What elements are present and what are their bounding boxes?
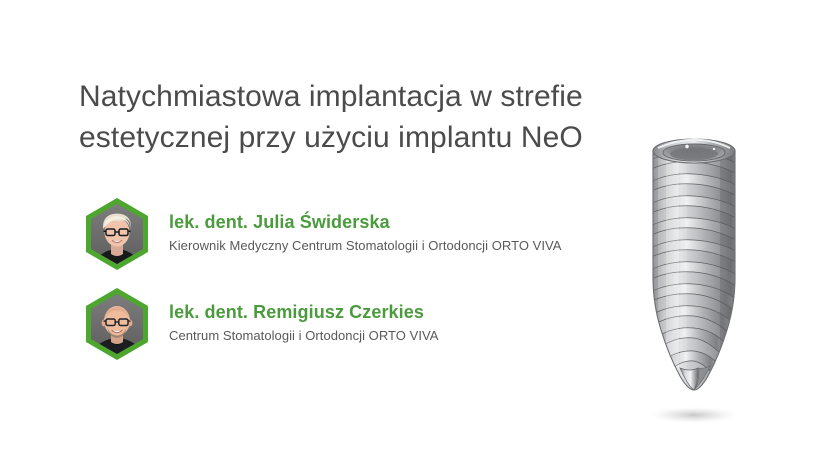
speaker-name-1: lek. dent. Julia Świderska <box>169 211 562 233</box>
speaker-text-2: lek. dent. Remigiusz Czerkies Centrum St… <box>169 301 438 347</box>
page-title: Natychmiastowa implantacja w strefie est… <box>79 76 619 158</box>
presentation-slide: Natychmiastowa implantacja w strefie est… <box>0 0 828 461</box>
speaker-entry-2: lek. dent. Remigiusz Czerkies Centrum St… <box>86 288 438 360</box>
speaker-name-2: lek. dent. Remigiusz Czerkies <box>169 301 438 323</box>
speaker-role-2: Centrum Stomatologii i Ortodoncji ORTO V… <box>169 326 438 345</box>
title-line-1: Natychmiastowa implantacja w strefie <box>79 76 619 117</box>
dental-implant-image <box>628 128 788 438</box>
avatar-hexagon-frame-1 <box>86 198 148 270</box>
title-line-2: estetycznej przy użyciu implantu NeO <box>79 117 619 158</box>
avatar-2 <box>91 294 143 354</box>
avatar-hexagon-frame-2 <box>86 288 148 360</box>
speaker-text-1: lek. dent. Julia Świderska Kierownik Med… <box>169 211 562 257</box>
speaker-entry-1: lek. dent. Julia Świderska Kierownik Med… <box>86 198 562 270</box>
speaker-role-1: Kierownik Medyczny Centrum Stomatologii … <box>169 236 562 255</box>
avatar-1 <box>91 204 143 264</box>
